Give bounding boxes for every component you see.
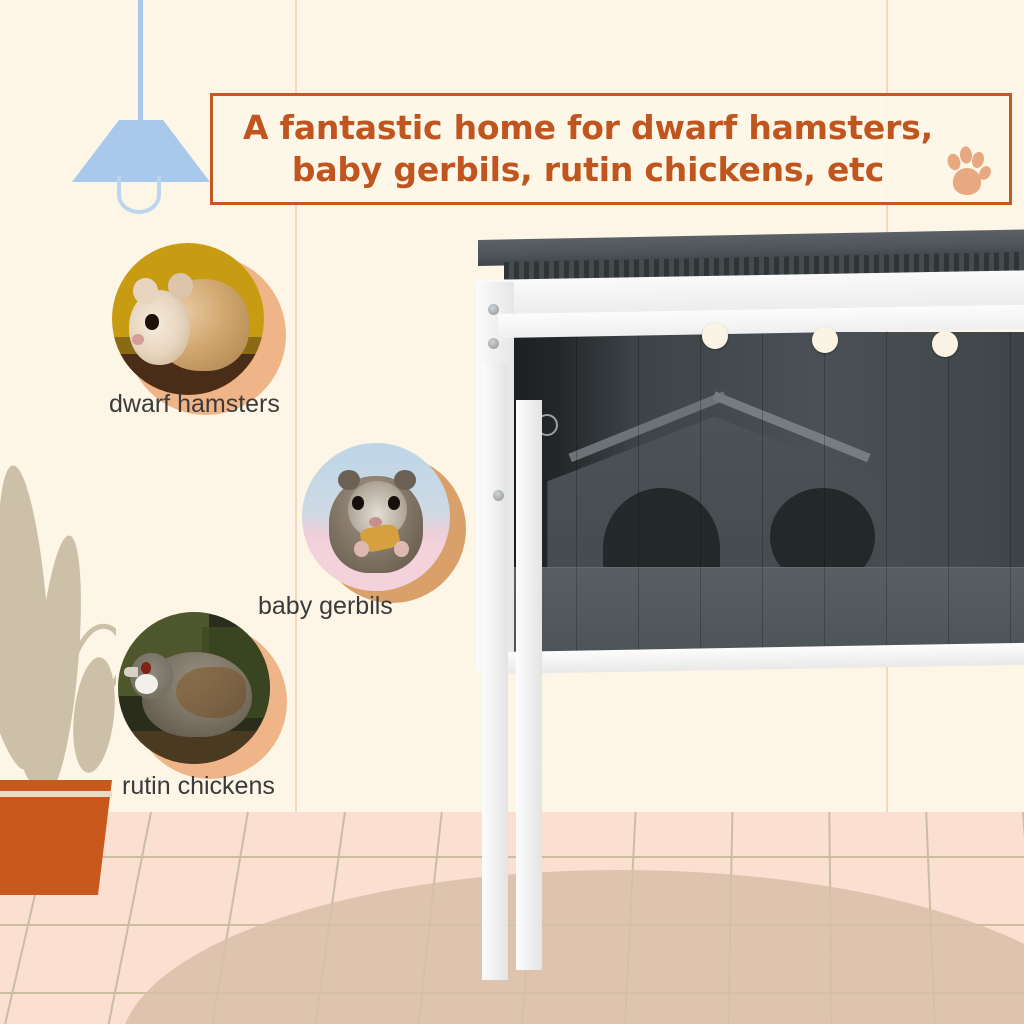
interior-plank-seam (824, 332, 825, 658)
interior-plank-seam (1010, 332, 1011, 658)
feeder-bowl[interactable] (932, 331, 958, 357)
interior-plank-seam (948, 332, 949, 658)
thumb-caption: dwarf hamsters (109, 390, 280, 419)
lamp-cord-icon (138, 0, 143, 123)
hutch-leg-front (482, 362, 508, 980)
hutch-leg-back (516, 400, 542, 970)
thumb-caption: baby gerbils (258, 592, 393, 621)
interior-plank-seam (886, 332, 887, 658)
interior-plank-seam (576, 332, 577, 658)
lamp-bulb-icon (117, 176, 161, 214)
interior-plank-seam (700, 332, 701, 658)
hutch-interior (514, 332, 1024, 658)
quail-photo (118, 612, 270, 764)
screw-icon (488, 338, 499, 349)
headline-text: A fantastic home for dwarf hamsters, bab… (243, 107, 979, 191)
gerbil-photo (302, 443, 450, 591)
potted-plant (0, 425, 116, 905)
paw-print-icon (943, 146, 991, 198)
thumb-caption: rutin chickens (122, 772, 275, 801)
feeder-bowl[interactable] (812, 327, 838, 353)
plant-pot (0, 780, 112, 895)
screw-icon (493, 490, 504, 501)
hamster-photo (112, 243, 264, 395)
poster-canvas: A fantastic home for dwarf hamsters, bab… (0, 0, 1024, 1024)
interior-plank-seam (762, 332, 763, 658)
interior-plank-seam (638, 332, 639, 658)
elevated-pet-hutch (460, 232, 1024, 1012)
headline-banner: A fantastic home for dwarf hamsters, bab… (210, 93, 1012, 205)
feeder-bowl[interactable] (702, 323, 728, 349)
